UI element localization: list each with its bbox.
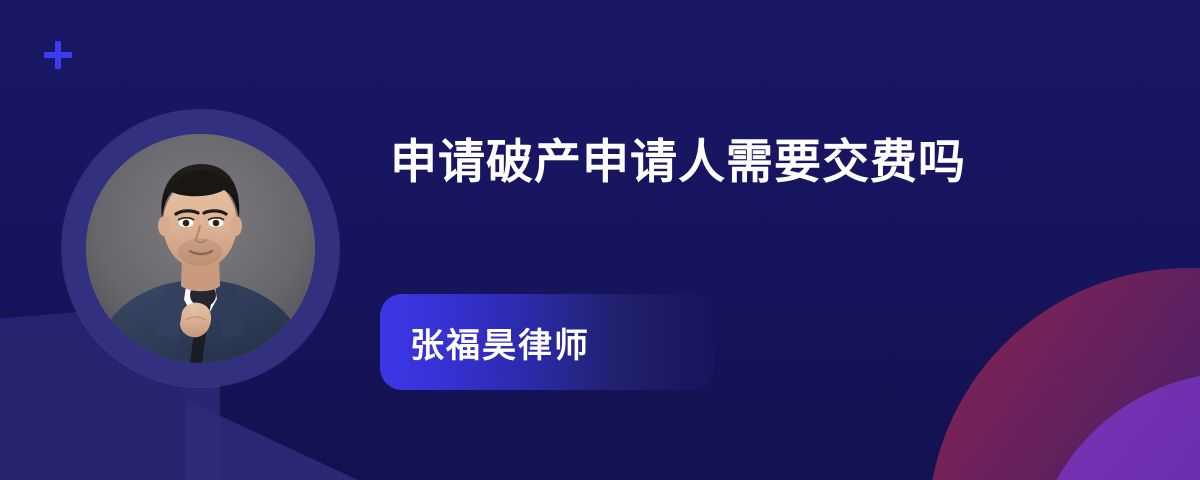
author-badge[interactable]: 张福昊律师	[380, 294, 714, 390]
avatar	[62, 110, 339, 387]
author-badge-label: 张福昊律师	[410, 318, 590, 367]
page-title: 申请破产申请人需要交费吗	[390, 128, 1070, 196]
plus-icon	[42, 39, 74, 71]
banner-content: 申请破产申请人需要交费吗 张福昊律师	[390, 128, 1180, 196]
avatar-photo	[86, 134, 315, 363]
lawyer-qa-banner: 申请破产申请人需要交费吗 张福昊律师	[0, 0, 1200, 480]
